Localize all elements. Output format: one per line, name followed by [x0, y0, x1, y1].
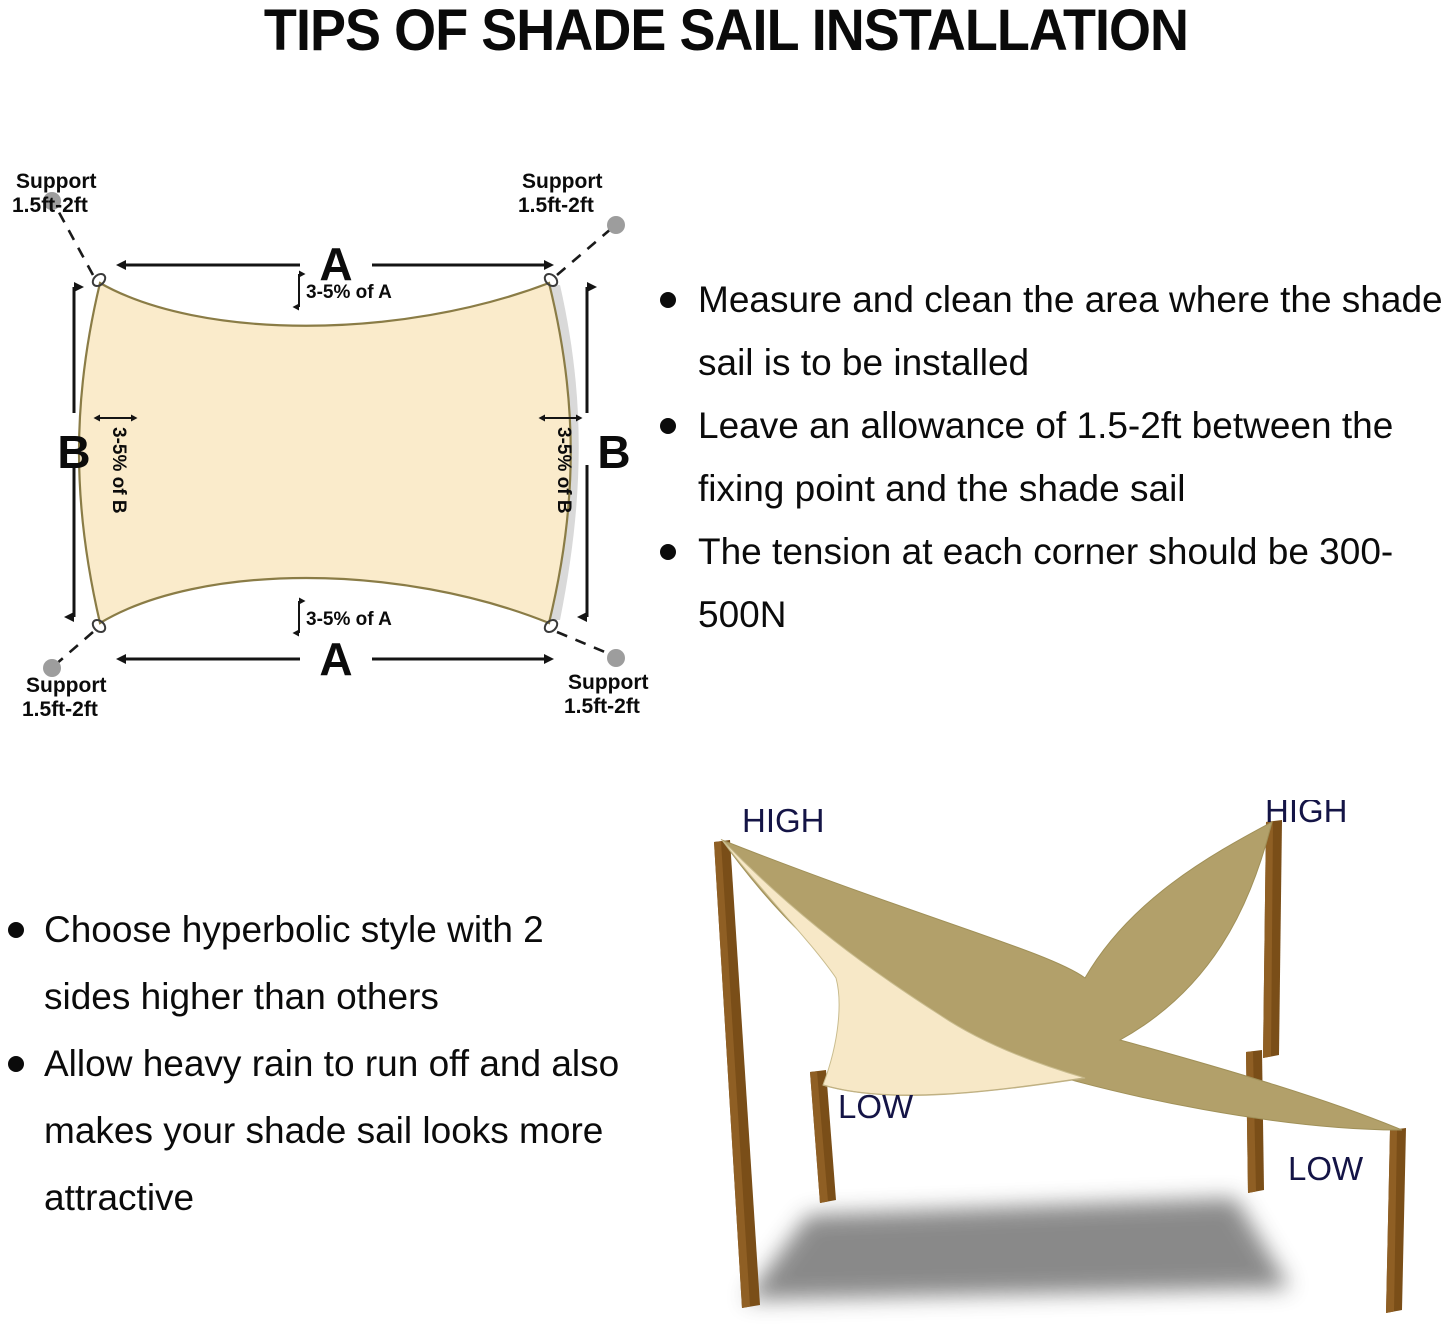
support-label-title: Support [16, 170, 96, 193]
sag-a-top-label: 3-5% of A [306, 282, 392, 303]
ground-shadow [745, 1198, 1290, 1300]
label-low-right: LOW [1288, 1150, 1364, 1187]
support-label-bottom-right: Support 1.5ft-2ft [564, 671, 648, 718]
support-label-top-right: Support 1.5ft-2ft [518, 170, 602, 217]
pole-high-right [1263, 820, 1282, 1058]
list-item: Allow heavy rain to run off and also mak… [0, 1030, 640, 1231]
support-label-bottom-left: Support 1.5ft-2ft [22, 674, 106, 721]
page-title: TIPS OF SHADE SAIL INSTALLATION [51, 0, 1401, 62]
support-label-value: 1.5ft-2ft [12, 194, 88, 217]
dimension-b-right-label: B [597, 426, 630, 478]
dimension-b-left-label: B [57, 426, 90, 478]
installation-tips-list: Measure and clean the area where the sha… [652, 268, 1452, 646]
dimension-a-bottom-label: A [319, 633, 352, 685]
tip-text: Leave an allowance of 1.5-2ft between th… [698, 405, 1393, 509]
support-label-title: Support [26, 674, 106, 697]
list-item: Measure and clean the area where the sha… [652, 268, 1452, 394]
sag-a-bottom-label: 3-5% of A [306, 609, 392, 630]
list-item: Leave an allowance of 1.5-2ft between th… [652, 394, 1452, 520]
label-high-left: HIGH [742, 802, 825, 839]
dimension-a-bottom: A 3-5% of A [126, 601, 544, 685]
rectangle-sail-diagram: Support 1.5ft-2ft Support 1.5ft-2ft Supp… [0, 165, 660, 725]
sag-b-left-label: 3-5% of B [108, 427, 129, 514]
list-item: The tension at each corner should be 300… [652, 520, 1452, 646]
label-high-right: HIGH [1265, 800, 1348, 829]
pole-low-right [1386, 1128, 1406, 1313]
support-label-value: 1.5ft-2ft [518, 194, 594, 217]
tip-text: Measure and clean the area where the sha… [698, 279, 1443, 383]
dimension-a-top: A 3-5% of A [126, 238, 544, 307]
style-tip-text: Choose hyperbolic style with 2 sides hig… [44, 909, 544, 1017]
pole-low-left [810, 1070, 836, 1203]
style-tip-text: Allow heavy rain to run off and also mak… [44, 1043, 619, 1218]
pole-low-mid [1246, 1050, 1264, 1193]
hyperbolic-sail-diagram: HIGH HIGH LOW LOW [690, 800, 1452, 1325]
support-label-value: 1.5ft-2ft [22, 698, 98, 721]
sag-b-right-label: 3-5% of B [553, 427, 574, 514]
pole-high-left [714, 840, 760, 1308]
page-root: TIPS OF SHADE SAIL INSTALLATION [0, 0, 1452, 1325]
list-item: Choose hyperbolic style with 2 sides hig… [0, 896, 640, 1030]
support-label-title: Support [522, 170, 602, 193]
support-label-top-left: Support 1.5ft-2ft [12, 170, 96, 217]
tip-text: The tension at each corner should be 300… [698, 531, 1393, 635]
style-tips-list: Choose hyperbolic style with 2 sides hig… [0, 896, 640, 1231]
support-label-value: 1.5ft-2ft [564, 695, 640, 718]
label-low-left: LOW [838, 1088, 914, 1125]
support-label-title: Support [568, 671, 648, 694]
shade-sail-shape [79, 283, 571, 623]
